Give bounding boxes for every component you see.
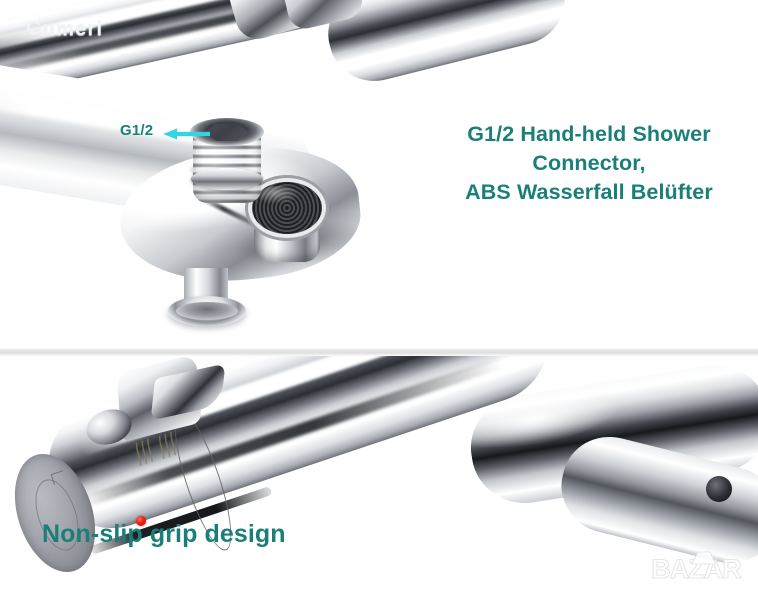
connector-caption: G1/2 Hand-held Shower Connector, ABS Was… [420,120,758,206]
callout-arrow-icon [162,128,210,140]
pedestal-foot-inner-ring [176,302,238,320]
product-image-canvas: G1/2 G1/2 Hand-held Shower Connector, AB… [0,0,758,600]
aerator-gloss [258,186,300,204]
marketplace-watermark: BAZAR [640,546,752,588]
faucet-right-bar [319,0,574,91]
brand-watermark: Gumeri [26,18,103,41]
panel-divider [0,348,758,356]
elbow-port-icon [706,476,732,502]
g12-callout-label: G1/2 [120,122,153,139]
grip-caption: Non-slip grip design [42,521,332,549]
connector-collar-ring [191,168,263,190]
